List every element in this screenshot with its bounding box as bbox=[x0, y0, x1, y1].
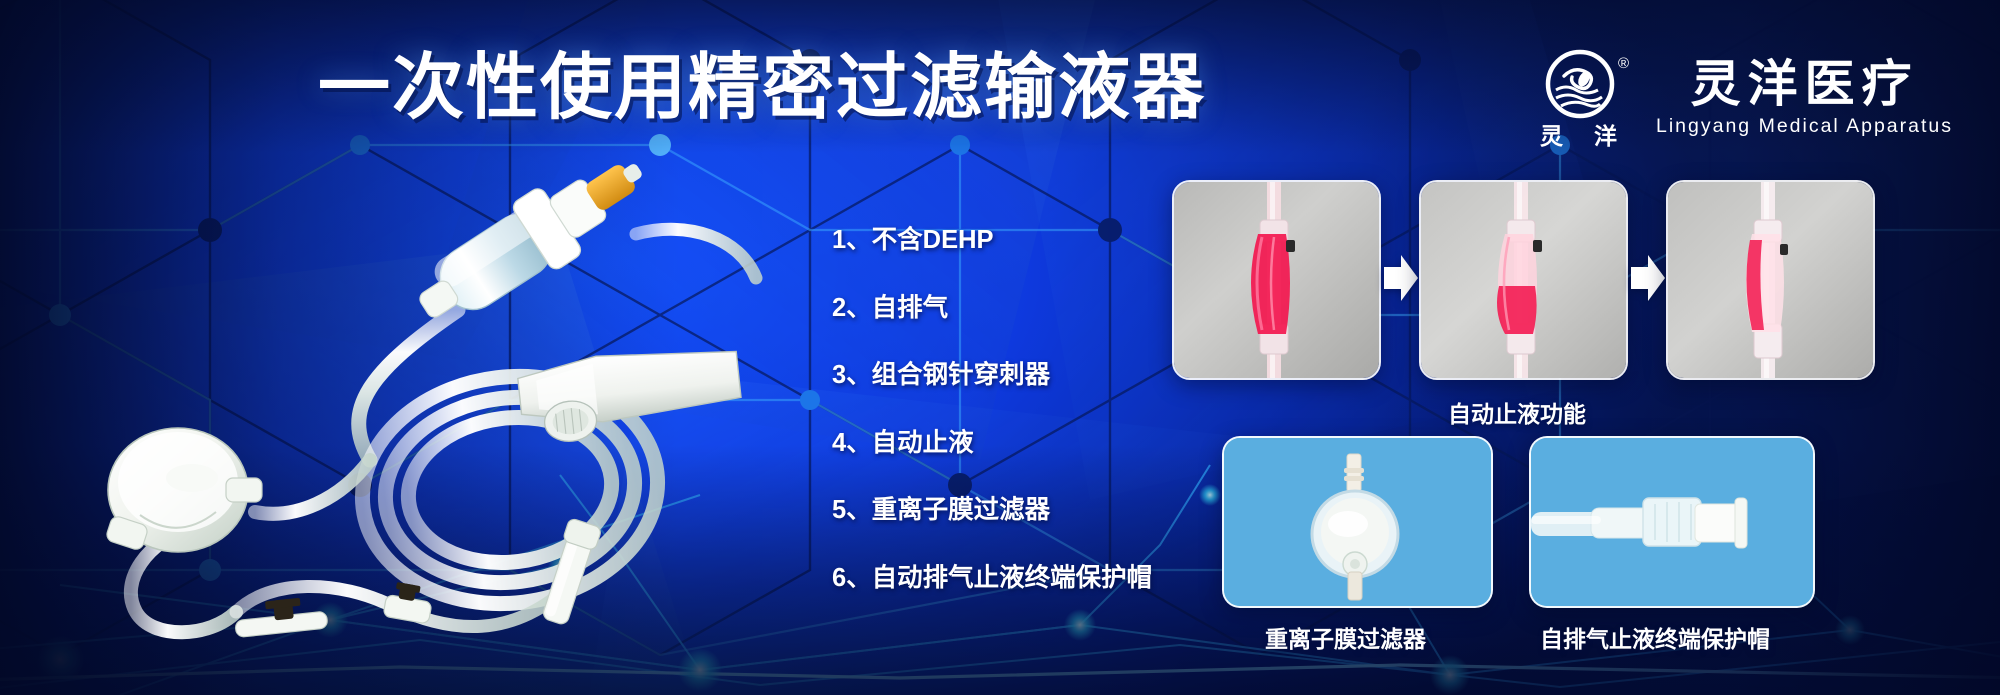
svg-text:洋: 洋 bbox=[1594, 123, 1617, 149]
autostop-step-1-panel bbox=[1172, 180, 1381, 380]
flow-arrow-2-icon bbox=[1631, 255, 1665, 301]
brand-wordmark: 灵洋医疗 Lingyang Medical Apparatus bbox=[1656, 58, 1953, 138]
autostop-step-2-photo bbox=[1421, 182, 1626, 378]
product-banner: 一次性使用精密过滤输液器 ® 灵 洋 灵洋医疗 Lingyang Medical… bbox=[0, 0, 2000, 695]
autostop-step-3-photo bbox=[1668, 182, 1873, 378]
brand-logo: ® 灵 洋 灵洋医疗 Lingyang Medical Apparatus bbox=[1536, 46, 1953, 150]
lingyang-emblem-icon: ® 灵 洋 bbox=[1536, 46, 1634, 150]
caption-autostop: 自动止液功能 bbox=[1448, 395, 1586, 429]
hero-product-image bbox=[40, 160, 800, 640]
autostop-step-3-panel bbox=[1666, 180, 1875, 380]
autostop-step-1-photo bbox=[1174, 182, 1379, 378]
caption-cap: 自排气止液终端保护帽 bbox=[1540, 620, 1770, 654]
cap-panel bbox=[1529, 436, 1815, 608]
svg-text:灵: 灵 bbox=[1540, 123, 1564, 149]
autostop-step-2-panel bbox=[1419, 180, 1628, 380]
flow-arrow-1-icon bbox=[1384, 255, 1418, 301]
caption-filter: 重离子膜过滤器 bbox=[1265, 620, 1426, 654]
svg-text:®: ® bbox=[1618, 55, 1629, 72]
feature-item-5: 5、重离子膜过滤器 bbox=[832, 498, 1232, 524]
heavy-ion-membrane-filter-photo bbox=[1224, 438, 1491, 606]
feature-item-4: 4、自动止液 bbox=[832, 431, 1232, 457]
filter-panel bbox=[1222, 436, 1493, 608]
page-title: 一次性使用精密过滤输液器 bbox=[318, 52, 1206, 124]
brand-name-en: Lingyang Medical Apparatus bbox=[1656, 115, 1953, 138]
feature-item-6: 6、自动排气止液终端保护帽 bbox=[832, 566, 1232, 592]
self-venting-terminal-protective-cap-photo bbox=[1531, 438, 1813, 606]
brand-name-cn: 灵洋医疗 bbox=[1691, 58, 1919, 111]
